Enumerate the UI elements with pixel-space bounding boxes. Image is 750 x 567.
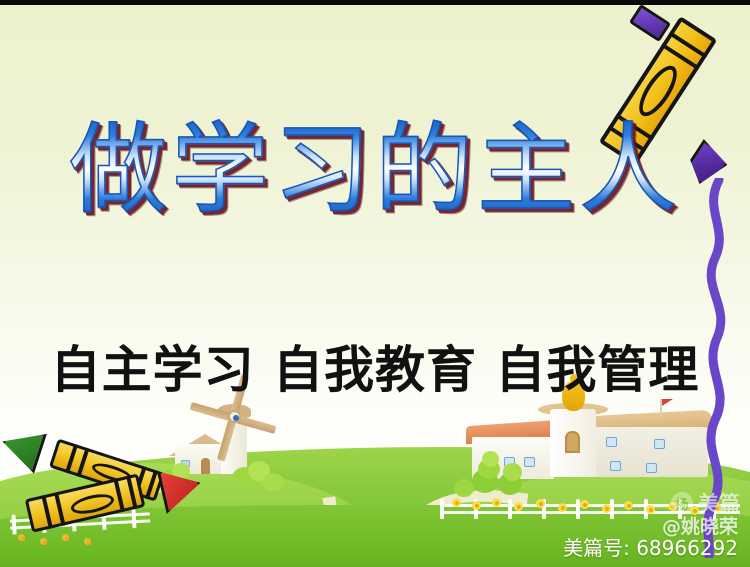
top-black-bar: [0, 0, 750, 5]
crayon-stripe: [126, 475, 137, 509]
bush: [262, 473, 284, 491]
flower: [84, 538, 91, 545]
flower: [472, 501, 481, 510]
crayon-stripe: [77, 447, 90, 477]
flower: [580, 500, 589, 509]
crayon-stripe: [41, 494, 52, 528]
tower-door: [565, 431, 580, 453]
fence-post: [508, 499, 512, 519]
flower: [514, 502, 523, 511]
meipian-logo-icon: 扬: [671, 492, 693, 514]
slide-canvas: 做学习的主人 自主学习 自我教育 自我管理 扬 美篇 @姚晓荣 美篇号: 689…: [0, 0, 750, 567]
slide-title: 做学习的主人: [69, 118, 681, 224]
tree: [454, 479, 474, 497]
crayon-label-oval: [69, 491, 116, 517]
watermark-id: 美篇号: 68966292: [563, 532, 738, 561]
crayon-stripe: [54, 492, 65, 526]
flower: [624, 501, 633, 510]
crayon-stripe: [113, 478, 124, 512]
village-window: [610, 461, 621, 471]
crayon-stripe: [65, 443, 78, 473]
village-window: [524, 457, 535, 467]
windmill-hub: [228, 410, 241, 423]
village-window: [654, 439, 665, 449]
title-area: 做学习的主人: [0, 118, 750, 224]
tree: [482, 451, 499, 467]
village-window: [606, 437, 617, 447]
flower: [558, 503, 567, 512]
flower: [536, 499, 545, 508]
fence-post: [440, 499, 444, 519]
tree: [503, 463, 522, 481]
village-window: [646, 463, 657, 473]
flower: [492, 498, 501, 507]
flower: [452, 498, 461, 507]
subtitle-area: 自主学习 自我教育 自我管理: [0, 330, 750, 402]
crayon-cap: [629, 4, 671, 42]
flower: [602, 504, 611, 513]
slide-subtitle: 自主学习 自我教育 自我管理: [51, 330, 700, 402]
flower: [646, 505, 655, 514]
house-door: [201, 458, 210, 474]
